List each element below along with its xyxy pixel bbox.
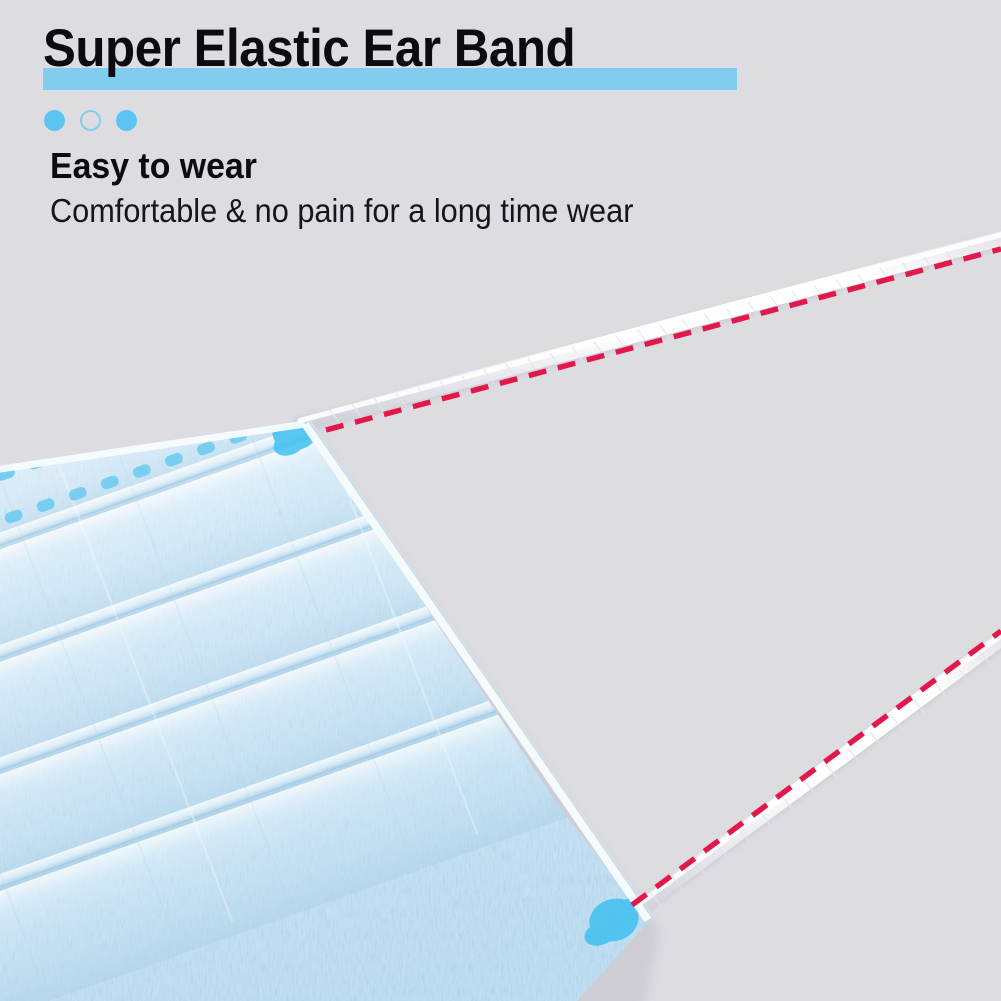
page-title: Super Elastic Ear Band — [43, 18, 575, 80]
title-wrap: Super Elastic Ear Band — [43, 18, 615, 90]
mask-illustration — [0, 230, 1001, 1001]
product-photo — [0, 230, 1001, 1001]
dot-1-filled — [44, 110, 65, 131]
progress-dots — [44, 110, 137, 131]
subtitle: Easy to wear — [50, 144, 257, 188]
product-infographic: Super Elastic Ear Band Easy to wear Comf… — [0, 0, 1001, 1001]
tagline: Comfortable & no pain for a long time we… — [50, 190, 633, 232]
dot-2-hollow — [80, 110, 101, 131]
header-block: Super Elastic Ear Band Easy to wear Comf… — [0, 0, 1001, 250]
dot-3-filled — [116, 110, 137, 131]
